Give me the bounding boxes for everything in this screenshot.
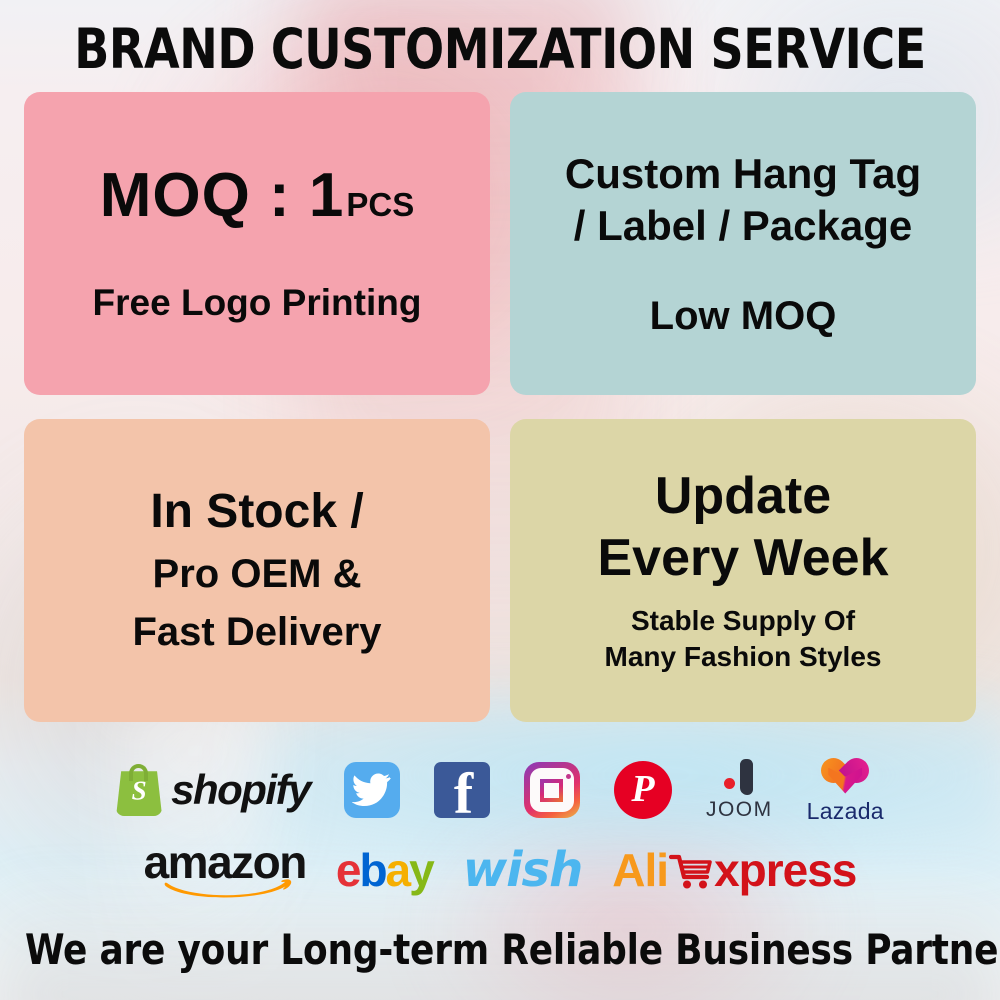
joom-j-icon	[716, 759, 762, 797]
card-in-stock-line2: Pro OEM &	[153, 545, 362, 603]
card-update-line2: Every Week	[597, 528, 888, 589]
pinterest-p-glyph: P	[631, 770, 654, 808]
shopify-logo: S shopify	[116, 764, 310, 816]
card-hang-tag-line2: / Label / Package	[565, 200, 921, 251]
joom-wordmark: JOOM	[706, 798, 773, 822]
ebay-letter-e: e	[336, 844, 360, 896]
card-moq-unit: PCS	[346, 188, 414, 223]
aliexpress-xpress-text: xpress	[714, 847, 856, 893]
card-update-line1: Update	[655, 466, 831, 527]
ebay-letter-y: y	[409, 844, 433, 896]
banner-content: BRAND CUSTOMIZATION SERVICE MOQ : 1PCS F…	[0, 0, 1000, 1000]
amazon-smile-icon	[164, 879, 292, 899]
footer-tagline: We are your Long-term Reliable Business …	[25, 925, 975, 974]
aliexpress-ali-text: Ali	[612, 847, 668, 893]
twitter-logo	[344, 762, 400, 818]
platform-logo-row-2: amazon ebay wish Ali	[0, 832, 1000, 908]
brand-customization-banner: BRAND CUSTOMIZATION SERVICE MOQ : 1PCS F…	[0, 0, 1000, 1000]
lazada-heart-icon	[821, 756, 869, 796]
amazon-logo: amazon	[144, 841, 306, 899]
card-moq-value: MOQ : 1	[100, 163, 345, 228]
card-in-stock: In Stock / Pro OEM & Fast Delivery	[24, 419, 490, 722]
instagram-camera-icon	[524, 762, 580, 818]
card-hang-tag: Custom Hang Tag / Label / Package Low MO…	[510, 92, 976, 395]
ebay-wordmark: ebay	[336, 847, 433, 893]
pinterest-logo: P	[614, 761, 672, 819]
card-update: Update Every Week Stable Supply Of Many …	[510, 419, 976, 722]
card-hang-tag-headline: Custom Hang Tag / Label / Package	[565, 148, 921, 250]
card-moq-headline: MOQ : 1PCS	[100, 163, 415, 228]
facebook-f-glyph: f	[454, 765, 473, 818]
wish-wordmark: wish	[463, 842, 583, 898]
lazada-logo: Lazada	[807, 756, 884, 825]
card-moq-subtext: Free Logo Printing	[93, 282, 422, 325]
shopping-cart-icon	[669, 852, 713, 890]
twitter-bird-icon	[344, 762, 400, 818]
card-update-subtext: Stable Supply Of Many Fashion Styles	[605, 603, 882, 675]
shopify-bag-icon: S	[116, 764, 162, 816]
lazada-wordmark: Lazada	[807, 798, 884, 825]
card-hang-tag-line1: Custom Hang Tag	[565, 148, 921, 199]
pinterest-p-icon: P	[614, 761, 672, 819]
ebay-logo: ebay	[336, 847, 433, 893]
instagram-logo	[524, 762, 580, 818]
card-in-stock-line3: Fast Delivery	[132, 603, 381, 661]
ebay-letter-a: a	[386, 844, 410, 896]
shopify-s-glyph: S	[132, 778, 147, 805]
platform-logo-row-1: S shopify f	[0, 748, 1000, 832]
feature-card-grid: MOQ : 1PCS Free Logo Printing Custom Han…	[24, 92, 976, 722]
facebook-logo: f	[434, 762, 490, 818]
ebay-letter-b: b	[359, 844, 385, 896]
joom-logo: JOOM	[706, 759, 773, 822]
card-update-sub-line2: Many Fashion Styles	[605, 639, 882, 675]
wish-logo: wish	[463, 842, 583, 898]
card-hang-tag-subtext: Low MOQ	[650, 293, 837, 339]
page-title: BRAND CUSTOMIZATION SERVICE	[35, 22, 965, 77]
facebook-f-icon: f	[434, 762, 490, 818]
aliexpress-logo: Ali xpress	[612, 847, 856, 893]
card-in-stock-line1: In Stock /	[150, 480, 363, 545]
card-moq: MOQ : 1PCS Free Logo Printing	[24, 92, 490, 395]
shopify-wordmark: shopify	[171, 766, 310, 814]
card-update-sub-line1: Stable Supply Of	[605, 603, 882, 639]
